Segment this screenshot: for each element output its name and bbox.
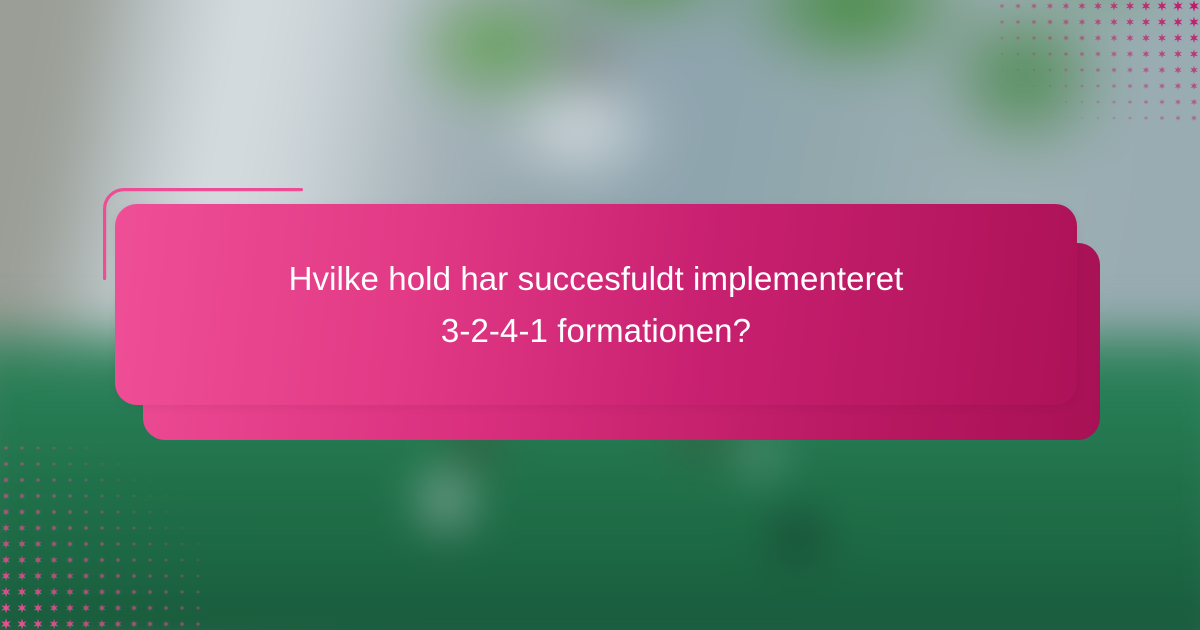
question-line-1: Hvilke hold har succesfuldt implementere…	[161, 253, 1031, 305]
question-text: Hvilke hold har succesfuldt implementere…	[115, 253, 1077, 357]
question-card: Hvilke hold har succesfuldt implementere…	[115, 204, 1077, 405]
page-canvas: Hvilke hold har succesfuldt implementere…	[0, 0, 1200, 630]
question-line-2: 3-2-4-1 formationen?	[161, 305, 1031, 357]
